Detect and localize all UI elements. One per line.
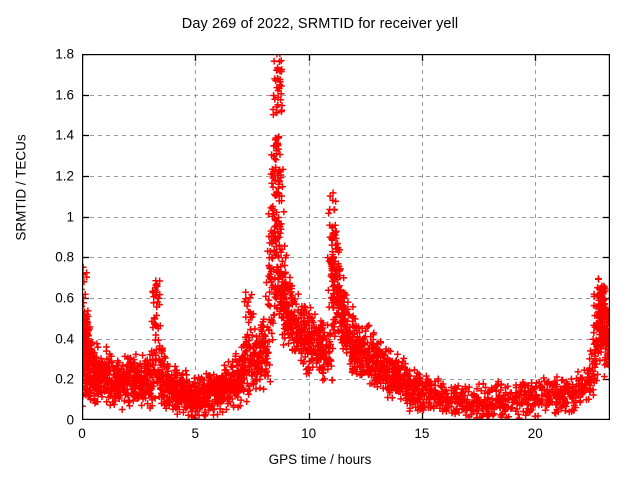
data-point-marker: [325, 210, 332, 217]
data-point-marker: [103, 344, 110, 351]
plot-area: [82, 54, 610, 420]
data-point-marker: [183, 371, 190, 378]
data-point-marker: [309, 364, 316, 371]
x-tick-label: 20: [528, 426, 543, 441]
x-tick-label: 10: [301, 426, 316, 441]
y-tick-label: 1.2: [8, 169, 74, 184]
data-point-marker: [329, 242, 336, 249]
data-point-marker: [540, 375, 547, 382]
data-point-marker: [280, 342, 287, 349]
y-tick-label: 0.6: [8, 291, 74, 306]
y-tick-label: 0.2: [8, 372, 74, 387]
y-tick-label: 0: [8, 413, 74, 428]
data-point-marker: [331, 206, 338, 213]
x-axis-label: GPS time / hours: [0, 452, 640, 467]
data-point-marker: [94, 340, 101, 347]
data-point-marker: [278, 108, 285, 115]
data-points-series: [82, 54, 610, 420]
x-tick-label: 5: [192, 426, 200, 441]
y-tick-label: 1.6: [8, 87, 74, 102]
chart-figure: Day 269 of 2022, SRMTID for receiver yel…: [0, 0, 640, 480]
scatter-plot-canvas: [82, 54, 610, 420]
data-point-marker: [94, 344, 101, 351]
y-tick-label: 1: [8, 209, 74, 224]
data-point-marker: [394, 351, 401, 358]
data-point-marker: [287, 274, 294, 281]
y-tick-label: 0.4: [8, 331, 74, 346]
y-tick-label: 0.8: [8, 250, 74, 265]
data-point-marker: [266, 262, 273, 269]
data-point-marker: [325, 287, 332, 294]
y-axis-tick-labels: 00.20.40.60.811.21.41.61.8: [0, 54, 74, 420]
data-point-marker: [285, 340, 292, 347]
data-point-marker: [119, 406, 126, 413]
data-point-marker: [400, 355, 407, 362]
x-axis-tick-labels: 05101520: [82, 424, 610, 444]
data-point-marker: [307, 304, 314, 311]
y-tick-label: 1.4: [8, 128, 74, 143]
data-point-marker: [397, 395, 404, 402]
y-tick-label: 1.8: [8, 47, 74, 62]
data-point-marker: [201, 412, 208, 419]
data-point-marker: [280, 208, 287, 215]
data-point-marker: [243, 398, 250, 405]
data-point-marker: [329, 377, 336, 384]
data-point-marker: [245, 391, 252, 398]
x-tick-label: 0: [78, 426, 86, 441]
data-point-marker: [252, 326, 259, 333]
data-point-marker: [295, 291, 302, 298]
data-point-marker: [242, 289, 249, 296]
data-point-marker: [138, 402, 145, 409]
x-tick-label: 15: [414, 426, 429, 441]
data-point-marker: [277, 151, 284, 158]
data-point-marker: [595, 276, 602, 283]
data-point-marker: [257, 385, 264, 392]
data-point-marker: [260, 386, 267, 393]
data-point-marker: [509, 404, 516, 411]
data-point-marker: [279, 102, 286, 109]
chart-title: Day 269 of 2022, SRMTID for receiver yel…: [0, 16, 640, 32]
